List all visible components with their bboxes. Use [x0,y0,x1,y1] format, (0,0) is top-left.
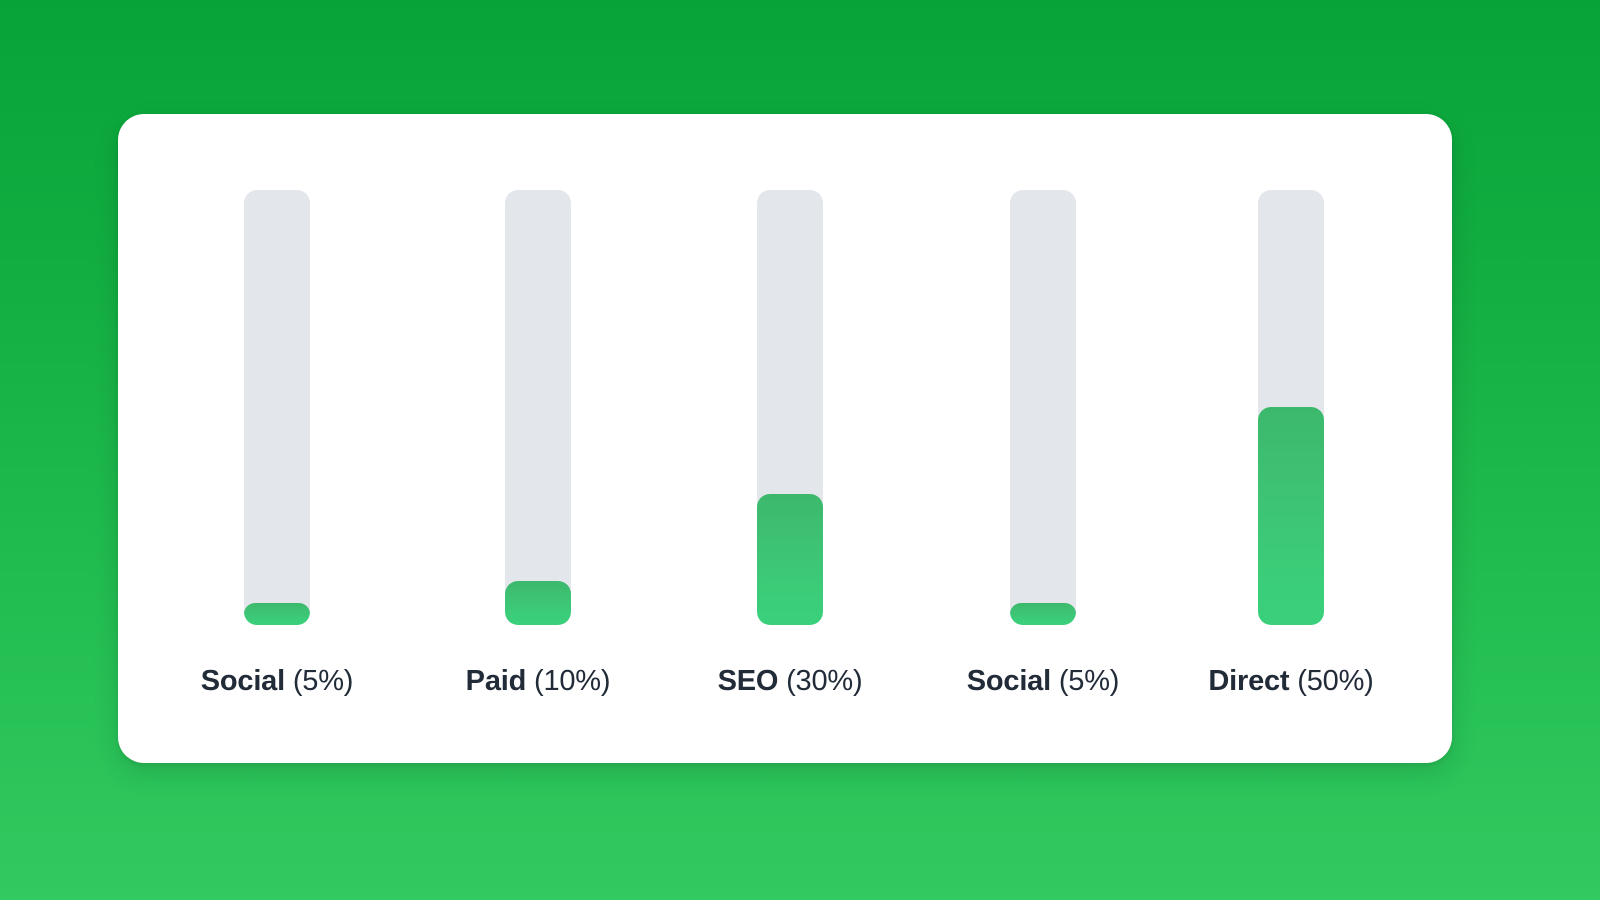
bar-track-2[interactable] [505,190,571,625]
bar-label-percent-1: (5%) [293,665,353,697]
bar-group-1[interactable]: Social (5%) [244,190,310,722]
bar-fill-3 [757,494,823,625]
bar-fill-4 [1010,603,1076,625]
bar-label-percent-5: (50%) [1297,665,1373,697]
bar-group-2[interactable]: Paid (10%) [505,190,571,722]
bar-label-percent-4: (5%) [1059,665,1119,697]
bar-fill-1 [244,603,310,625]
bar-group-4[interactable]: Social (5%) [1010,190,1076,722]
bar-track-3[interactable] [757,190,823,625]
page-background: Social (5%) Paid (10%) SEO (30%) [0,0,1600,900]
bar-track-4[interactable] [1010,190,1076,625]
bar-label-name-3: SEO [718,665,779,697]
bar-group-3[interactable]: SEO (30%) [757,190,823,722]
bar-label-name-1: Social [201,665,285,697]
bar-chart-plot: Social (5%) Paid (10%) SEO (30%) [118,114,1452,763]
bar-fill-2 [505,581,571,625]
bar-group-5[interactable]: Direct (50%) [1258,190,1324,722]
chart-card: Social (5%) Paid (10%) SEO (30%) [118,114,1452,763]
bar-track-5[interactable] [1258,190,1324,625]
bar-label-name-4: Social [967,665,1051,697]
bar-fill-5 [1258,407,1324,625]
bar-label-5: Direct (50%) [1208,667,1373,696]
bar-label-1: Social (5%) [201,667,354,696]
bar-label-4: Social (5%) [967,667,1120,696]
bar-label-3: SEO (30%) [718,667,863,696]
bar-label-percent-3: (30%) [786,665,862,697]
bar-label-name-2: Paid [466,665,526,697]
bar-label-name-5: Direct [1208,665,1289,697]
bar-label-percent-2: (10%) [534,665,610,697]
bar-label-2: Paid (10%) [466,667,611,696]
bar-track-1[interactable] [244,190,310,625]
